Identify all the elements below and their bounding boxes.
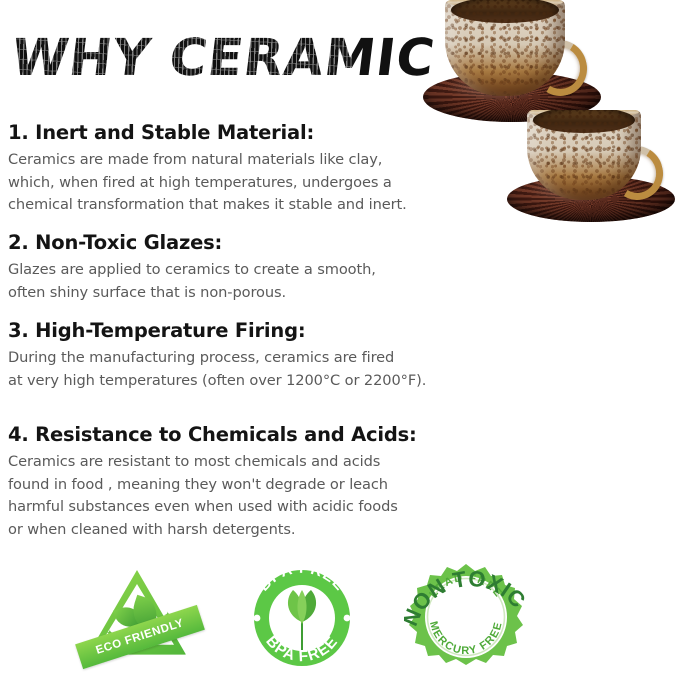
- section-3-line-1: During the manufacturing process, cerami…: [8, 347, 426, 370]
- page-title-text: WHY CERAMIC: [8, 28, 356, 90]
- eco-friendly-badge: ✦ ✦ ECO FRIENDLY: [80, 562, 210, 670]
- section-2-body: Glazes are applied to ceramics to create…: [8, 259, 376, 304]
- section-1-line-1: Ceramics are made from natural materials…: [8, 149, 407, 172]
- section-3-line-2: at very high temperatures (often over 12…: [8, 370, 426, 393]
- cup-interior-front: [533, 110, 636, 133]
- section-2-line-2: often shiny surface that is non-porous.: [8, 282, 376, 305]
- section-4-body: Ceramics are resistant to most chemicals…: [8, 451, 417, 541]
- section-3-body: During the manufacturing process, cerami…: [8, 347, 426, 392]
- section-2: 2. Non-Toxic Glazes: Glazes are applied …: [8, 230, 376, 304]
- section-4-heading: 4. Resistance to Chemicals and Acids:: [8, 422, 417, 448]
- section-4-line-3: harmful substances even when used with a…: [8, 496, 417, 519]
- section-4: 4. Resistance to Chemicals and Acids: Ce…: [8, 422, 417, 541]
- page-title: WHY CERAMIC: [8, 28, 348, 98]
- section-1-line-3: chemical transformation that makes it st…: [8, 194, 407, 217]
- cup-interior-back: [451, 0, 559, 23]
- section-2-line-1: Glazes are applied to ceramics to create…: [8, 259, 376, 282]
- bpa-free-badge: BPA FREE BPA FREE: [243, 562, 361, 670]
- non-toxic-svg: LEAD FREE MERCURY FREE NON TOXIC: [404, 560, 528, 672]
- section-1: 1. Inert and Stable Material: Ceramics a…: [8, 120, 407, 217]
- certification-badges: ✦ ✦ ECO FRIENDLY: [0, 558, 679, 674]
- bpa-free-svg: BPA FREE BPA FREE: [243, 562, 361, 670]
- section-3-heading: 3. High-Temperature Firing:: [8, 318, 426, 344]
- section-1-line-2: which, when fired at high temperatures, …: [8, 172, 407, 195]
- section-4-line-2: found in food , meaning they won't degra…: [8, 474, 417, 497]
- section-4-line-4: or when cleaned with harsh detergents.: [8, 519, 417, 542]
- section-2-heading: 2. Non-Toxic Glazes:: [8, 230, 376, 256]
- non-toxic-badge: LEAD FREE MERCURY FREE NON TOXIC: [404, 560, 528, 672]
- ceramic-cup-and-saucer-photo: [419, 0, 679, 245]
- bpa-dot-left: [254, 615, 261, 622]
- section-3: 3. High-Temperature Firing: During the m…: [8, 318, 426, 392]
- section-1-heading: 1. Inert and Stable Material:: [8, 120, 407, 146]
- section-4-line-1: Ceramics are resistant to most chemicals…: [8, 451, 417, 474]
- section-1-body: Ceramics are made from natural materials…: [8, 149, 407, 217]
- bpa-dot-right: [344, 615, 351, 622]
- product-infographic-page: WHY CERAMIC 1. Inert and Stable Material…: [0, 0, 679, 674]
